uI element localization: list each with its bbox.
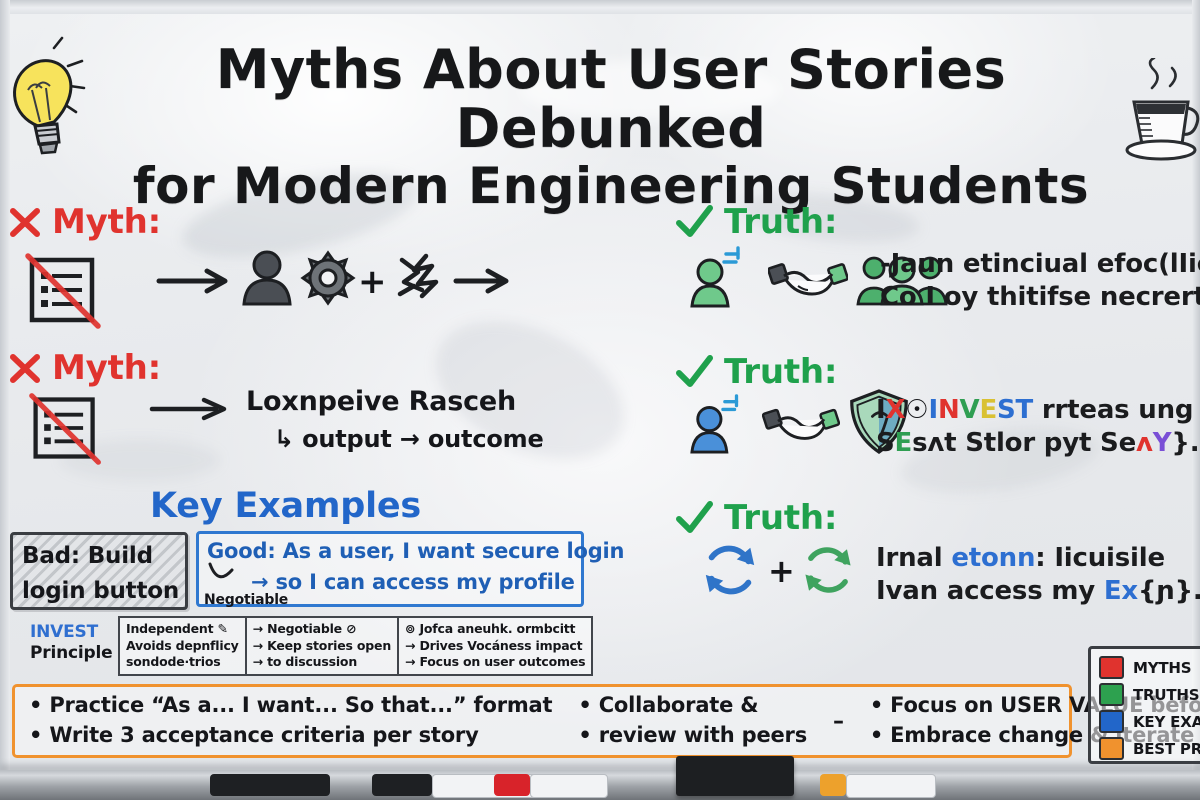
title-line-1: Myths About User Stories Debunked (96, 40, 1126, 159)
marker-orange[interactable] (820, 774, 846, 796)
truth-2-invest: INVEST (928, 395, 1033, 425)
invest-table: Independent ✎ Avoids depnflicy sondode·t… (118, 616, 593, 676)
truth-2-line-1: IX☉INVEST rrteas ung (876, 394, 1199, 427)
best-practices-column-1: • Practice “As a... I want... So that...… (29, 691, 552, 751)
person-icon (238, 248, 296, 310)
best-practice-item: • Write 3 acceptance criteria per story (29, 721, 552, 751)
legend-label: TRUTHS (1133, 686, 1199, 704)
truth-1-text: -Jaun etinciual efoc(lIic) Co I oy thiti… (880, 248, 1200, 315)
invest-cell: → Drives Vocáness impact (405, 638, 585, 655)
truth-label-text: Truth: (724, 498, 837, 538)
board-frame-top (0, 0, 1200, 14)
good-example-line-1: Good: As a user, I want secure login (199, 534, 581, 565)
legend-swatch-key-examples (1099, 710, 1124, 733)
truth-1-line-1: -Jaun etinciual efoc(lIic) (880, 248, 1200, 281)
title-line-2: for Modern Engineering Students (96, 159, 1126, 214)
marker-white-body-3[interactable] (846, 774, 936, 798)
whiteboard-eraser[interactable] (676, 756, 794, 796)
best-practice-item: • Practice “As a... I want... So that...… (29, 691, 552, 721)
invest-cell: Avoids depnflicy (126, 638, 239, 655)
invest-cell: → Negotiable ⊘ (253, 621, 391, 638)
handshake-icon (768, 256, 848, 308)
check-mark-icon (676, 501, 714, 535)
legend-label: BEST PR (1133, 740, 1200, 758)
person-with-idea-icon (690, 244, 754, 312)
truth-label-2: Truth: (676, 352, 837, 392)
best-practices-bar: • Practice “As a... I want... So that...… (12, 684, 1072, 758)
gear-icon (300, 250, 356, 310)
myth-label-text: Myth: (52, 202, 161, 242)
marker-white-body-2[interactable] (530, 774, 608, 798)
legend-swatch-best-practices (1099, 737, 1124, 760)
marker-black-2[interactable] (372, 774, 432, 796)
arrow-right-icon (452, 268, 512, 298)
invest-cell: sondode·trios (126, 654, 239, 671)
truth-label-text: Truth: (724, 352, 837, 392)
plus-symbol: + (768, 552, 795, 590)
whiteboard: Myths About User Stories Debunked for Mo… (0, 0, 1200, 800)
negotiable-label: Negotiable (204, 592, 288, 608)
legend-box: MYTHS TRUTHS KEY EXA BEST PR (1088, 646, 1200, 764)
crossed-out-checklist-icon (24, 250, 104, 334)
marker-red[interactable] (494, 774, 530, 796)
invest-cell: → Keep stories open (253, 638, 391, 655)
crossed-out-checklist-icon (28, 390, 104, 470)
legend-swatch-truths (1099, 683, 1124, 706)
truth-label-1: Truth: (676, 202, 837, 242)
legend-label: KEY EXA (1133, 713, 1200, 731)
legend-row-key-examples: KEY EXA (1099, 710, 1200, 733)
invest-principle-label: INVEST Principle (30, 622, 112, 665)
invest-cell: → to discussion (253, 654, 391, 671)
green-refresh-icon (800, 542, 856, 602)
x-mark-icon (8, 351, 42, 385)
separator-dash: – (833, 709, 844, 734)
bad-example-line-1: Bad: Build (13, 535, 185, 570)
bad-example-line-2: login button (13, 570, 185, 605)
invest-label-line-2: Principle (30, 643, 112, 664)
truth-2-line-2: SEsʌt Stlor pyt SeʌY}. (876, 427, 1199, 460)
legend-row-best-practices: BEST PR (1099, 737, 1200, 760)
truth-3-text: Irnal etonn: Iicuisile Ivan access my Ex… (876, 542, 1200, 609)
invest-cell: → Focus on user outcomes (405, 654, 585, 671)
legend-swatch-myths (1099, 656, 1124, 679)
invest-column-3: ⊚ Jofca aneuhk. ormbcitt → Drives Vocáne… (399, 618, 591, 674)
marker-black-1[interactable] (210, 774, 330, 796)
arrow-right-icon (155, 268, 233, 298)
myth-label-2: Myth: (8, 348, 161, 388)
person-with-idea-icon (690, 392, 752, 458)
blue-refresh-icon (700, 540, 760, 604)
scribble-icon (392, 248, 448, 308)
truth-3-line-1: Irnal etonn: Iicuisile (876, 542, 1200, 575)
truth-1-line-2: Co I oy thitifse necrerturc (880, 281, 1200, 314)
check-mark-icon (676, 355, 714, 389)
myth-2-line-2: ↳ output → outcome (274, 425, 544, 453)
plus-symbol: + (358, 262, 386, 302)
truth-label-text: Truth: (724, 202, 837, 242)
truth-2-text: IX☉INVEST rrteas ung SEsʌt Stlor pyt Seʌ… (876, 394, 1199, 461)
coffee-cup-icon (1118, 58, 1200, 174)
bad-example-box: Bad: Build login button (10, 532, 188, 610)
x-mark-icon (8, 205, 42, 239)
truth-label-3: Truth: (676, 498, 837, 538)
lightbulb-icon (2, 30, 94, 170)
truth-3-line-2: Ivan access my Ex{ɲ}. (876, 575, 1200, 608)
key-examples-heading: Key Examples (150, 486, 421, 526)
myth-label-1: Myth: (8, 202, 161, 242)
invest-column-2: → Negotiable ⊘ → Keep stories open → to … (247, 618, 399, 674)
best-practice-item: • review with peers (578, 721, 807, 751)
legend-row-myths: MYTHS (1099, 656, 1200, 679)
page-title: Myths About User Stories Debunked for Mo… (96, 40, 1126, 214)
legend-label: MYTHS (1133, 659, 1191, 677)
myth-label-text: Myth: (52, 348, 161, 388)
check-mark-icon (676, 205, 714, 239)
legend-row-truths: TRUTHS (1099, 683, 1200, 706)
best-practice-item: • Collaborate & (578, 691, 807, 721)
invest-cell: Independent ✎ (126, 621, 239, 638)
myth-2-line-1: Loxnpeive Rasceh (246, 384, 544, 419)
negotiable-curve-icon (206, 560, 240, 594)
myth-2-text: Loxnpeive Rasceh ↳ output → outcome (246, 384, 544, 453)
best-practices-column-2: • Collaborate & • review with peers (578, 691, 807, 751)
handshake-icon (762, 402, 840, 452)
invest-column-1: Independent ✎ Avoids depnflicy sondode·t… (120, 618, 247, 674)
invest-label-line-1: INVEST (30, 622, 112, 643)
arrow-right-icon (148, 396, 230, 426)
invest-cell: ⊚ Jofca aneuhk. ormbcitt (405, 621, 585, 638)
